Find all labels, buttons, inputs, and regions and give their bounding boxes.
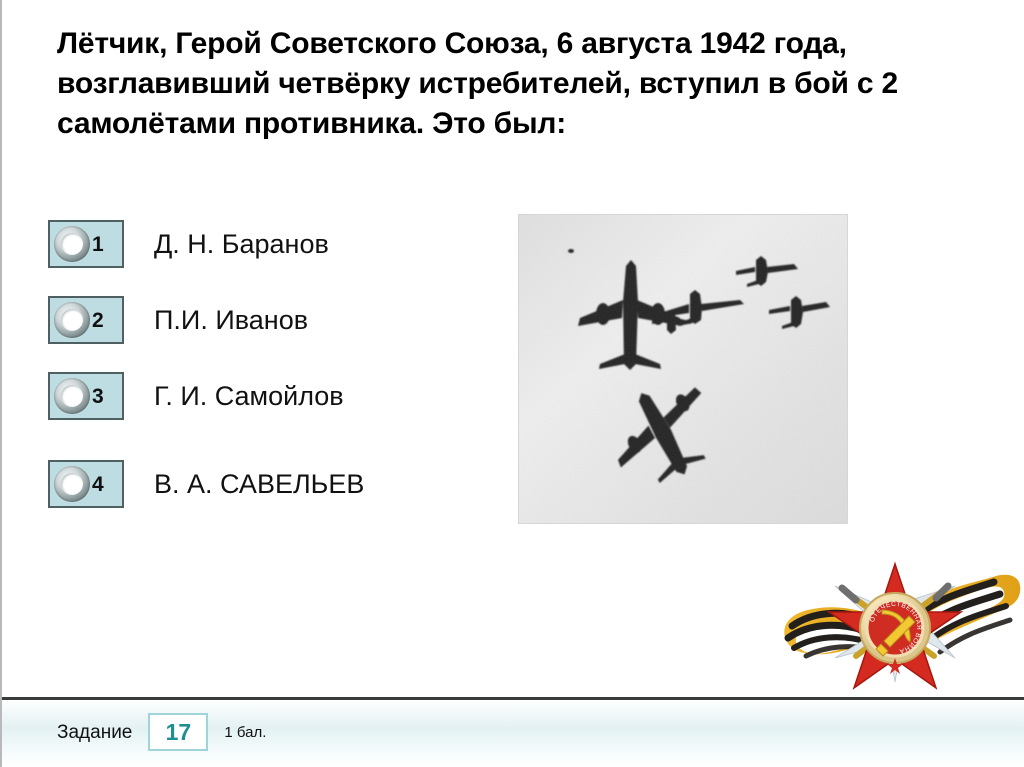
task-number: 17 xyxy=(166,721,192,744)
option-label-3: Г. И. Самойлов xyxy=(154,383,344,410)
option-number-4: 4 xyxy=(92,474,104,495)
option-label-1: Д. Н. Баранов xyxy=(154,231,329,258)
footer-content: Задание 17 1 бал. xyxy=(57,713,266,751)
footer-bar: Задание 17 1 бал. xyxy=(2,700,1024,767)
option-row-1[interactable]: 1 Д. Н. Баранов xyxy=(48,218,498,270)
option-number-2: 2 xyxy=(92,310,104,331)
aircraft-photo xyxy=(518,214,848,524)
option-number-1: 1 xyxy=(92,234,104,255)
option-label-4: В. А. САВЕЛЬЕВ xyxy=(154,471,364,498)
option-row-2[interactable]: 2 П.И. Иванов xyxy=(48,294,498,346)
task-number-box: 17 xyxy=(148,713,208,751)
answer-options-list: 1 Д. Н. Баранов 2 П.И. Иванов 3 Г. И. Са… xyxy=(48,218,498,510)
radio-ring-icon xyxy=(54,378,90,414)
option-row-4[interactable]: 4 В. А. САВЕЛЬЕВ xyxy=(48,458,498,510)
task-label: Задание xyxy=(57,723,132,742)
option-number-3: 3 xyxy=(92,386,104,407)
radio-ring-icon xyxy=(54,302,90,338)
radio-button-2[interactable]: 2 xyxy=(48,296,124,344)
radio-ring-icon xyxy=(54,466,90,502)
radio-ring-icon xyxy=(54,226,90,262)
question-text: Лётчик, Герой Советского Союза, 6 август… xyxy=(57,24,937,144)
radio-button-1[interactable]: 1 xyxy=(48,220,124,268)
radio-button-3[interactable]: 3 xyxy=(48,372,124,420)
option-label-2: П.И. Иванов xyxy=(154,307,308,334)
task-points: 1 бал. xyxy=(224,725,266,740)
radio-button-4[interactable]: 4 xyxy=(48,460,124,508)
order-of-patriotic-war-icon: ОТЕЧЕСТВЕННАЯ ВОЙНА xyxy=(764,548,1024,696)
option-row-3[interactable]: 3 Г. И. Самойлов xyxy=(48,370,498,422)
quiz-slide: Лётчик, Герой Советского Союза, 6 август… xyxy=(0,0,1024,767)
